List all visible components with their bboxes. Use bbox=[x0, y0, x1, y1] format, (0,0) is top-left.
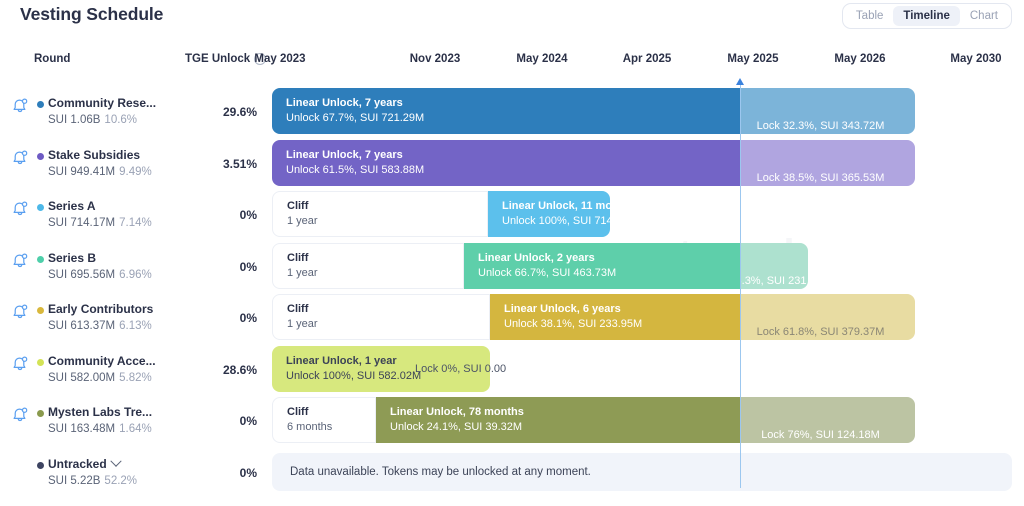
round-amount: SUI 714.17M7.14% bbox=[48, 217, 152, 229]
locked-segment[interactable]: Lock 61.8%, SUI 379.37M bbox=[740, 294, 915, 340]
view-tab-table[interactable]: Table bbox=[846, 6, 894, 26]
round-amount: SUI 5.22B52.2% bbox=[48, 475, 137, 487]
vesting-row: Community Rese...SUI 1.06B10.6%29.6%Line… bbox=[0, 88, 1024, 140]
round-name-text: Series A bbox=[48, 199, 96, 213]
round-color-dot bbox=[37, 410, 44, 417]
round-color-dot bbox=[37, 359, 44, 366]
page-title: Vesting Schedule bbox=[20, 4, 163, 25]
round-name[interactable]: Untracked bbox=[48, 457, 120, 471]
round-name: Stake Subsidies bbox=[48, 148, 140, 162]
timeline-date-label: May 2024 bbox=[516, 53, 567, 65]
round-supply-percent: 52.2% bbox=[104, 475, 137, 487]
round-amount: SUI 949.41M9.49% bbox=[48, 166, 152, 178]
unlock-detail: Unlock 100%, SUI 714.18M bbox=[502, 214, 610, 229]
lock-detail: Lock 38.5%, SUI 365.53M bbox=[757, 171, 885, 186]
tge-unlock-value: 0% bbox=[185, 208, 257, 222]
round-color-dot bbox=[37, 101, 44, 108]
unlock-title: Linear Unlock, 6 years bbox=[504, 302, 740, 317]
round-amount-value: SUI 1.06B bbox=[48, 114, 100, 126]
unlock-detail: Unlock 67.7%, SUI 721.29M bbox=[286, 111, 740, 126]
vesting-row: Series BSUI 695.56M6.96%0%Cliff1 yearLin… bbox=[0, 243, 1024, 295]
round-name: Community Acce... bbox=[48, 354, 156, 368]
cliff-title: Cliff bbox=[287, 199, 487, 214]
round-name: Series A bbox=[48, 199, 96, 213]
timeline-date-label: Nov 2023 bbox=[410, 53, 461, 65]
vesting-row: Mysten Labs Tre...SUI 163.48M1.64%0%Clif… bbox=[0, 397, 1024, 449]
round-supply-percent: 10.6% bbox=[104, 114, 137, 126]
lock-detail-outside: Lock 0%, SUI 0.00 bbox=[415, 346, 506, 392]
round-color-dot bbox=[37, 204, 44, 211]
round-name-text: Series B bbox=[48, 251, 96, 265]
view-tab-chart[interactable]: Chart bbox=[960, 6, 1008, 26]
round-color-dot bbox=[37, 153, 44, 160]
round-amount-value: SUI 949.41M bbox=[48, 166, 115, 178]
current-date-marker-arrow bbox=[736, 78, 745, 85]
bell-notification-icon[interactable] bbox=[10, 148, 30, 168]
tge-unlock-value: 0% bbox=[185, 311, 257, 325]
round-amount: SUI 695.56M6.96% bbox=[48, 269, 152, 281]
vesting-row: Series ASUI 714.17M7.14%0%Cliff1 yearLin… bbox=[0, 191, 1024, 243]
tge-unlock-value: 0% bbox=[185, 414, 257, 428]
round-amount-value: SUI 613.37M bbox=[48, 320, 115, 332]
lock-detail: Lock 61.8%, SUI 379.37M bbox=[757, 325, 885, 340]
bell-notification-icon[interactable] bbox=[10, 405, 30, 425]
bell-notification-icon[interactable] bbox=[10, 302, 30, 322]
cliff-title: Cliff bbox=[287, 251, 463, 266]
cliff-duration: 1 year bbox=[287, 266, 463, 281]
round-supply-percent: 1.64% bbox=[119, 423, 152, 435]
unlock-detail: Unlock 66.7%, SUI 463.73M bbox=[478, 266, 740, 281]
round-color-dot bbox=[37, 307, 44, 314]
unlocked-segment[interactable]: Linear Unlock, 6 yearsUnlock 38.1%, SUI … bbox=[490, 294, 740, 340]
unlocked-segment[interactable]: Linear Unlock, 78 monthsUnlock 24.1%, SU… bbox=[376, 397, 740, 443]
round-name-text: Early Contributors bbox=[48, 302, 153, 316]
current-date-marker-line bbox=[740, 84, 741, 488]
round-amount-value: SUI 695.56M bbox=[48, 269, 115, 281]
unlock-title: Linear Unlock, 2 years bbox=[478, 251, 740, 266]
column-header-tge-label: TGE Unlock bbox=[185, 53, 250, 65]
view-switcher[interactable]: TableTimelineChart bbox=[842, 3, 1012, 29]
timeline-date-label: May 2030 bbox=[950, 53, 1001, 65]
round-amount: SUI 582.00M5.82% bbox=[48, 372, 152, 384]
chevron-down-icon[interactable] bbox=[110, 456, 121, 467]
tge-unlock-value: 0% bbox=[185, 260, 257, 274]
round-amount-value: SUI 163.48M bbox=[48, 423, 115, 435]
vesting-row: Early ContributorsSUI 613.37M6.13%0%Clif… bbox=[0, 294, 1024, 346]
unlock-title: Linear Unlock, 7 years bbox=[286, 96, 740, 111]
unlock-detail: Unlock 24.1%, SUI 39.32M bbox=[390, 420, 740, 435]
round-supply-percent: 9.49% bbox=[119, 166, 152, 178]
round-supply-percent: 5.82% bbox=[119, 372, 152, 384]
lock-detail: Lock 33.3%, SUI 231.87M bbox=[740, 274, 808, 289]
locked-segment[interactable]: Lock 76%, SUI 124.18M bbox=[740, 397, 915, 443]
round-name-text: Community Acce... bbox=[48, 354, 156, 368]
round-color-dot bbox=[37, 462, 44, 469]
round-amount: SUI 1.06B10.6% bbox=[48, 114, 137, 126]
round-supply-percent: 6.96% bbox=[119, 269, 152, 281]
bell-notification-icon[interactable] bbox=[10, 199, 30, 219]
locked-segment[interactable]: Lock 33.3%, SUI 231.87M bbox=[740, 243, 808, 289]
round-name: Community Rese... bbox=[48, 96, 156, 110]
unlock-title: Linear Unlock, 7 years bbox=[286, 148, 740, 163]
data-unavailable-text: Data unavailable. Tokens may be unlocked… bbox=[290, 466, 591, 478]
timeline-date-label: May 2026 bbox=[834, 53, 885, 65]
column-header-row: Round TGE Unlock i May 2023Nov 2023May 2… bbox=[0, 52, 1024, 72]
lock-detail: Lock 76%, SUI 124.18M bbox=[761, 428, 880, 443]
unlocked-segment[interactable]: Linear Unlock, 7 yearsUnlock 61.5%, SUI … bbox=[272, 140, 740, 186]
timeline-date-label: May 2023 bbox=[254, 53, 305, 65]
round-amount-value: SUI 5.22B bbox=[48, 475, 100, 487]
timeline-date-label: May 2025 bbox=[727, 53, 778, 65]
view-tab-timeline[interactable]: Timeline bbox=[893, 6, 959, 26]
vesting-schedule-page: Vesting Schedule TableTimelineChart Roun… bbox=[0, 0, 1024, 506]
round-amount: SUI 613.37M6.13% bbox=[48, 320, 152, 332]
cliff-duration: 6 months bbox=[287, 420, 375, 435]
round-name: Early Contributors bbox=[48, 302, 153, 316]
unlock-detail: Unlock 38.1%, SUI 233.95M bbox=[504, 317, 740, 332]
vesting-row: Stake SubsidiesSUI 949.41M9.49%3.51%Line… bbox=[0, 140, 1024, 192]
timeline-date-label: Apr 2025 bbox=[623, 53, 672, 65]
bell-notification-icon[interactable] bbox=[10, 96, 30, 116]
data-unavailable-banner: Data unavailable. Tokens may be unlocked… bbox=[272, 453, 1012, 491]
tge-unlock-value: 29.6% bbox=[185, 105, 257, 119]
cliff-segment[interactable]: Cliff1 year bbox=[272, 243, 464, 289]
locked-segment[interactable]: Lock 32.3%, SUI 343.72M bbox=[740, 88, 915, 134]
cliff-segment[interactable]: Cliff1 year bbox=[272, 191, 488, 237]
round-name-text: Stake Subsidies bbox=[48, 148, 140, 162]
round-name-text: Community Rese... bbox=[48, 96, 156, 110]
cliff-duration: 1 year bbox=[287, 214, 487, 229]
unlock-detail: Unlock 61.5%, SUI 583.88M bbox=[286, 163, 740, 178]
vesting-row: UntrackedSUI 5.22B52.2%0%Data unavailabl… bbox=[0, 449, 1024, 501]
round-amount-value: SUI 714.17M bbox=[48, 217, 115, 229]
cliff-segment[interactable]: Cliff1 year bbox=[272, 294, 490, 340]
tge-unlock-value: 0% bbox=[185, 466, 257, 480]
round-amount: SUI 163.48M1.64% bbox=[48, 423, 152, 435]
column-header-round: Round bbox=[34, 53, 70, 65]
round-amount-value: SUI 582.00M bbox=[48, 372, 115, 384]
unlock-title: Linear Unlock, 78 months bbox=[390, 405, 740, 420]
locked-segment[interactable]: Lock 38.5%, SUI 365.53M bbox=[740, 140, 915, 186]
bell-notification-icon[interactable] bbox=[10, 354, 30, 374]
round-color-dot bbox=[37, 256, 44, 263]
cliff-segment[interactable]: Cliff6 months bbox=[272, 397, 376, 443]
round-name: Mysten Labs Tre... bbox=[48, 405, 152, 419]
unlocked-segment[interactable]: Linear Unlock, 7 yearsUnlock 67.7%, SUI … bbox=[272, 88, 740, 134]
unlocked-segment[interactable]: Linear Unlock, 2 yearsUnlock 66.7%, SUI … bbox=[464, 243, 740, 289]
tge-unlock-value: 3.51% bbox=[185, 157, 257, 171]
unlocked-segment[interactable]: Linear Unlock, 11 monthsUnlock 100%, SUI… bbox=[488, 191, 610, 237]
tge-unlock-value: 28.6% bbox=[185, 363, 257, 377]
round-supply-percent: 7.14% bbox=[119, 217, 152, 229]
cliff-title: Cliff bbox=[287, 302, 489, 317]
round-name-text: Untracked bbox=[48, 457, 107, 471]
vesting-row: Community Acce...SUI 582.00M5.82%28.6%Li… bbox=[0, 346, 1024, 398]
lock-detail: Lock 32.3%, SUI 343.72M bbox=[757, 119, 885, 134]
cliff-duration: 1 year bbox=[287, 317, 489, 332]
round-name: Series B bbox=[48, 251, 96, 265]
round-name-text: Mysten Labs Tre... bbox=[48, 405, 152, 419]
unlock-title: Linear Unlock, 11 months bbox=[502, 199, 610, 214]
cliff-title: Cliff bbox=[287, 405, 375, 420]
round-supply-percent: 6.13% bbox=[119, 320, 152, 332]
bell-notification-icon[interactable] bbox=[10, 251, 30, 271]
